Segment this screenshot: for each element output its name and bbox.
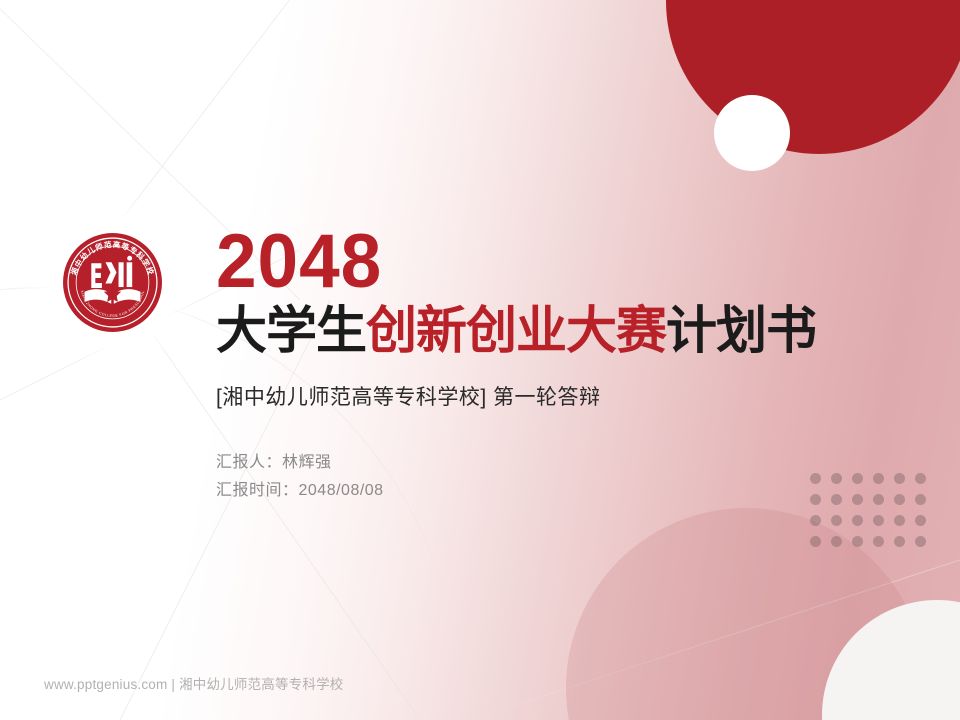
dot — [852, 536, 863, 547]
dot — [915, 536, 926, 547]
university-seal-icon: 湘中幼儿师范高等专科学校 XIANGZHONG COLLEGE FOR PRES… — [62, 232, 163, 333]
dot — [915, 515, 926, 526]
dot — [873, 515, 884, 526]
decor-circle-white-notch — [714, 95, 790, 171]
headline-tail: 计划书 — [666, 302, 816, 359]
headline-accent: 创新创业大赛 — [366, 302, 666, 359]
footer-text: www.pptgenius.com | 湘中幼儿师范高等专科学校 — [44, 673, 343, 693]
presentation-meta: 汇报人：林辉强 汇报时间：2048/08/08 — [216, 449, 916, 505]
presenter-line: 汇报人：林辉强 — [216, 449, 916, 477]
headline-lead: 大学生 — [216, 302, 366, 359]
dot — [831, 536, 842, 547]
dot — [852, 515, 863, 526]
dot — [810, 536, 821, 547]
dot — [810, 515, 821, 526]
dot — [894, 536, 905, 547]
date-line: 汇报时间：2048/08/08 — [216, 477, 916, 505]
dot — [831, 515, 842, 526]
dot — [915, 473, 926, 484]
dot — [915, 494, 926, 505]
subtitle: [湘中幼儿师范高等专科学校] 第一轮答辩 — [216, 381, 916, 411]
year-number: 2048 — [216, 226, 888, 298]
page-title: 大学生创新创业大赛计划书 — [216, 302, 916, 359]
dot — [894, 515, 905, 526]
dot — [873, 536, 884, 547]
title-slide: 湘中幼儿师范高等专科学校 XIANGZHONG COLLEGE FOR PRES… — [0, 0, 960, 720]
university-logo: 湘中幼儿师范高等专科学校 XIANGZHONG COLLEGE FOR PRES… — [47, 217, 178, 348]
title-text-block: 2048 大学生创新创业大赛计划书 [湘中幼儿师范高等专科学校] 第一轮答辩 汇… — [216, 226, 916, 505]
